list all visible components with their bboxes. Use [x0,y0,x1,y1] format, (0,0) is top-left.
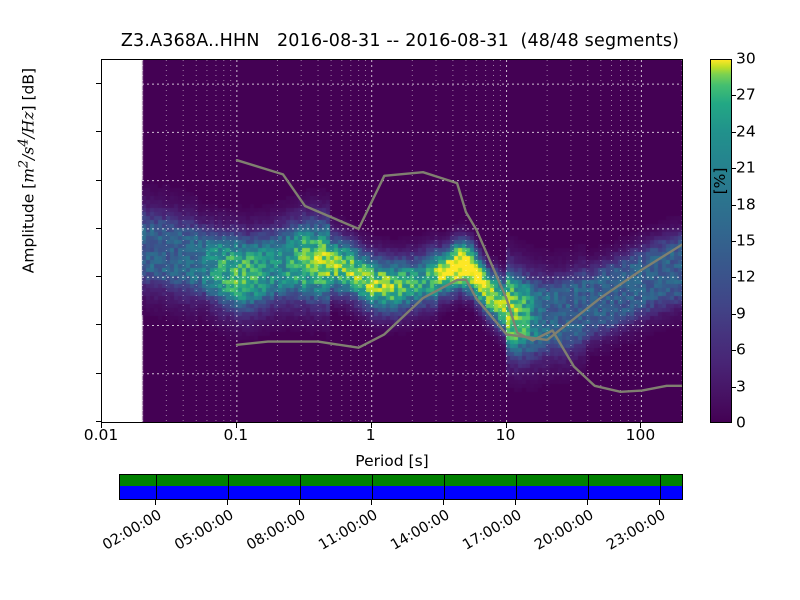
ppsd-plot-area[interactable] [101,59,683,423]
colorbar-tick-label: 3 [736,379,746,395]
colorbar-tick-label: 24 [736,124,756,140]
page-title: Z3.A368A..HHN 2016-08-31 -- 2016-08-31 (… [0,31,800,51]
colorbar-tick-mark [732,277,736,278]
colorbar-tick-mark [732,387,736,388]
colorbar-tick-mark [732,132,736,133]
y-tick-mark [96,131,101,132]
x-tick-label: 1 [366,428,376,444]
time-tick-label: 08:00:00 [232,508,309,561]
colorbar-tick-mark [732,314,736,315]
time-tick-mark [227,500,228,505]
colorbar-tick-mark [732,350,736,351]
coverage-tick-separator [228,475,229,499]
x-tick-label: 0.01 [84,428,119,444]
x-tick-label: 100 [626,428,656,444]
y-tick-mark [96,180,101,181]
colorbar-tick-mark [732,95,736,96]
time-tick-label: 11:00:00 [304,508,381,561]
time-coverage-bar[interactable] [119,474,683,500]
colorbar-tick-label: 30 [736,51,756,67]
time-tick-mark [659,500,660,505]
colorbar-tick-label: 0 [736,415,746,431]
colorbar-tick-label: 21 [736,160,756,176]
coverage-tick-separator [660,475,661,499]
time-tick-label: 05:00:00 [160,508,237,561]
coverage-band-blue [120,486,682,499]
y-tick-mark [96,228,101,229]
colorbar-tick-label: 6 [736,342,746,358]
x-tick-mark [506,423,507,428]
coverage-tick-separator [516,475,517,499]
coverage-tick-separator [588,475,589,499]
time-tick-mark [155,500,156,505]
time-tick-mark [443,500,444,505]
ppsd-axes-inner [102,60,682,422]
time-tick-mark [515,500,516,505]
colorbar-tick-label: 18 [736,197,756,213]
y-tick-mark [96,421,101,422]
y-tick-mark [96,373,101,374]
colorbar-tick-mark [732,241,736,242]
time-tick-label: 14:00:00 [376,508,453,561]
coverage-band-green [120,475,682,486]
time-tick-mark [587,500,588,505]
colorbar-tick-label: 9 [736,306,746,322]
x-tick-mark [236,423,237,428]
x-tick-label: 10 [496,428,516,444]
colorbar-tick-mark [732,168,736,169]
time-tick-label: 20:00:00 [520,508,597,561]
x-tick-label: 0.1 [224,428,249,444]
colorbar-label: [%] [711,121,729,241]
time-tick-label: 23:00:00 [592,508,669,561]
colorbar-tick-label: 12 [736,270,756,286]
y-axis-label: Amplitude [m2/s4/Hz] [dB] [16,0,37,353]
colorbar-tick-label: 15 [736,233,756,249]
x-tick-mark [371,423,372,428]
coverage-tick-separator [372,475,373,499]
time-tick-label: 17:00:00 [448,508,525,561]
y-tick-mark [96,83,101,84]
coverage-tick-separator [444,475,445,499]
colorbar[interactable] [710,59,732,423]
y-tick-mark [96,324,101,325]
time-tick-mark [371,500,372,505]
coverage-tick-separator [300,475,301,499]
time-tick-label: 02:00:00 [88,508,165,561]
time-tick-mark [299,500,300,505]
colorbar-tick-mark [732,205,736,206]
x-tick-mark [101,423,102,428]
colorbar-tick-label: 27 [736,88,756,104]
coverage-tick-separator [156,475,157,499]
noise-model-curves [102,60,682,422]
x-tick-mark [640,423,641,428]
x-axis-label: Period [s] [101,452,683,470]
y-tick-mark [96,276,101,277]
